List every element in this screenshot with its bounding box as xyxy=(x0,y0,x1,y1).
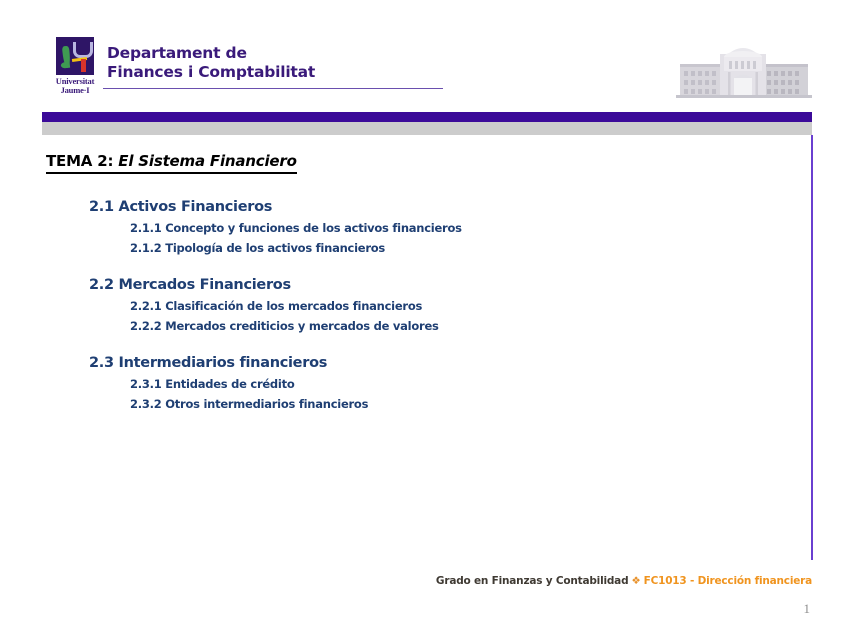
uji-logo: Universitat Jaume·I xyxy=(44,37,106,94)
page-number: 1 xyxy=(804,601,811,617)
page-title-prefix: TEMA 2: xyxy=(46,152,118,170)
slide-header: Universitat Jaume·I Departament de Finan… xyxy=(0,0,848,110)
toc-section-heading: 2.2 Mercados Financieros xyxy=(89,275,848,295)
toc-subitem: 2.3.1 Entidades de crédito xyxy=(130,376,848,393)
toc-subitem: 2.1.2 Tipología de los activos financier… xyxy=(130,240,848,257)
logo-lilac-hook-shape xyxy=(73,42,93,58)
toc-subitem: 2.3.2 Otros intermediarios financieros xyxy=(130,396,848,413)
toc-section: 2.3 Intermediarios financieros 2.3.1 Ent… xyxy=(0,353,848,412)
toc-section-heading: 2.1 Activos Financieros xyxy=(89,197,848,217)
toc-subitem: 2.2.2 Mercados crediticios y mercados de… xyxy=(130,318,848,335)
toc-subitem: 2.2.1 Clasificación de los mercados fina… xyxy=(130,298,848,315)
uji-logo-wordmark: Universitat Jaume·I xyxy=(44,77,106,94)
page-title-emphasis: El Sistema Financiero xyxy=(118,152,296,170)
logo-red-bar-shape xyxy=(81,59,86,72)
department-title-line1: Departament de xyxy=(107,44,315,63)
toc-subitem: 2.1.1 Concepto y funciones de los activo… xyxy=(130,220,848,237)
uji-wordmark-line2: Jaume·I xyxy=(44,86,106,95)
slide-canvas: Universitat Jaume·I Departament de Finan… xyxy=(0,0,848,636)
uji-logo-icon xyxy=(56,37,94,75)
logo-green-shape xyxy=(62,46,71,69)
toc-section: 2.2 Mercados Financieros 2.2.1 Clasifica… xyxy=(0,275,848,334)
department-title: Departament de Finances i Comptabilitat xyxy=(107,44,315,82)
slide-footer: Grado en Finanzas y Contabilidad❖FC1013 … xyxy=(436,575,812,587)
toc-section-heading: 2.3 Intermediarios financieros xyxy=(89,353,848,373)
department-title-line2: Finances i Comptabilitat xyxy=(107,63,315,82)
header-gray-bar xyxy=(42,122,812,135)
department-underline xyxy=(103,88,443,89)
footer-degree-label: Grado en Finanzas y Contabilidad xyxy=(436,575,628,587)
header-purple-bar xyxy=(42,112,812,122)
university-building-photo xyxy=(666,32,820,102)
table-of-contents: 2.1 Activos Financieros 2.1.1 Concepto y… xyxy=(0,197,848,431)
page-title: TEMA 2: El Sistema Financiero xyxy=(46,152,297,174)
footer-separator-icon: ❖ xyxy=(628,575,643,587)
footer-course-label: FC1013 - Dirección financiera xyxy=(644,575,812,587)
toc-section: 2.1 Activos Financieros 2.1.1 Concepto y… xyxy=(0,197,848,256)
